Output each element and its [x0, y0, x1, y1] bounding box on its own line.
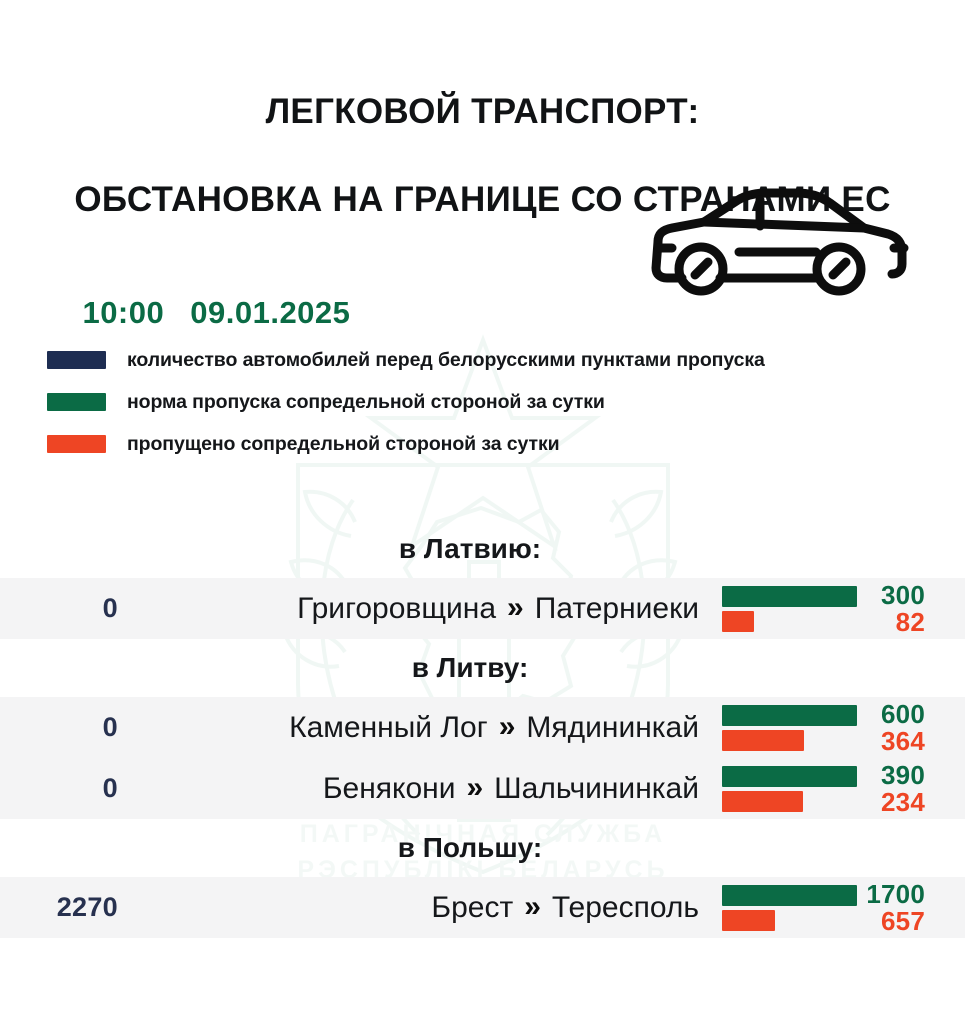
bar-group	[722, 586, 857, 632]
checkpoint-to: Мядининкай	[526, 711, 699, 745]
timestamp-time: 10:00	[82, 295, 164, 330]
value-group: 390234	[857, 762, 965, 816]
legend-swatch-norm	[47, 393, 106, 411]
route: Каменный Лог»Мядининкай	[118, 711, 713, 745]
route: Бенякони»Шальчининкай	[118, 772, 713, 806]
value-norm: 390	[857, 762, 925, 789]
group-heading: в Литву:	[0, 639, 965, 697]
group-heading: в Польшу:	[0, 819, 965, 877]
double-chevron-right-icon: »	[507, 593, 524, 623]
value-passed: 82	[857, 609, 925, 636]
legend-item-passed: пропущено сопредельной стороной за сутки	[47, 428, 765, 460]
legend-item-norm: норма пропуска сопредельной стороной за …	[47, 386, 765, 418]
table-row: 0Каменный Лог»Мядининкай600364	[0, 697, 965, 758]
checkpoint-to: Шальчининкай	[494, 772, 699, 806]
legend-swatch-passed	[47, 435, 106, 453]
queue-count: 2270	[0, 892, 118, 923]
value-passed: 657	[857, 908, 925, 935]
legend-label-passed: пропущено сопредельной стороной за сутки	[127, 433, 560, 456]
value-norm: 1700	[857, 881, 925, 908]
queue-count: 0	[0, 593, 118, 624]
legend-label-queue: количество автомобилей перед белорусским…	[127, 349, 765, 372]
bar-group	[722, 885, 857, 931]
group-heading: в Латвию:	[0, 520, 965, 578]
double-chevron-right-icon: »	[524, 892, 541, 922]
table-row: 2270Брест»Тересполь1700657	[0, 877, 965, 938]
checkpoint-to: Тересполь	[552, 891, 699, 925]
checkpoint-from: Григоровщина	[297, 592, 496, 626]
border-crossing-table: в Латвию:0Григоровщина»Патерниеки30082в …	[0, 520, 965, 938]
checkpoint-from: Каменный Лог	[289, 711, 488, 745]
car-icon	[642, 186, 910, 298]
bar-group	[722, 766, 857, 812]
value-norm: 300	[857, 582, 925, 609]
table-row: 0Григоровщина»Патерниеки30082	[0, 578, 965, 639]
value-group: 1700657	[857, 881, 965, 935]
checkpoint-from: Брест	[431, 891, 513, 925]
bar-passed	[722, 791, 803, 812]
legend-swatch-queue	[47, 351, 106, 369]
page-title-line-1: ЛЕГКОВОЙ ТРАНСПОРТ:	[0, 90, 965, 134]
legend-item-queue: количество автомобилей перед белорусским…	[47, 344, 765, 376]
bar-norm	[722, 586, 857, 607]
legend-label-norm: норма пропуска сопредельной стороной за …	[127, 391, 605, 414]
route: Брест»Тересполь	[118, 891, 713, 925]
legend: количество автомобилей перед белорусским…	[47, 344, 765, 470]
checkpoint-to: Патерниеки	[535, 592, 699, 626]
bar-group	[722, 705, 857, 751]
infographic-root: ПАГРАНІЧНАЯ СЛУЖБА РЭСПУБЛІКІ БЕЛАРУСЬ Л…	[0, 0, 965, 1024]
queue-count: 0	[0, 712, 118, 743]
checkpoint-from: Бенякони	[323, 772, 456, 806]
queue-count: 0	[0, 773, 118, 804]
bar-norm	[722, 885, 857, 906]
table-row: 0Бенякони»Шальчининкай390234	[0, 758, 965, 819]
timestamp-date: 09.01.2025	[190, 295, 350, 330]
bar-passed	[722, 611, 754, 632]
value-group: 30082	[857, 582, 965, 636]
value-group: 600364	[857, 701, 965, 755]
value-norm: 600	[857, 701, 925, 728]
value-passed: 234	[857, 789, 925, 816]
route: Григоровщина»Патерниеки	[118, 592, 713, 626]
bar-passed	[722, 910, 775, 931]
bar-norm	[722, 705, 857, 726]
double-chevron-right-icon: »	[466, 773, 483, 803]
double-chevron-right-icon: »	[499, 712, 516, 742]
bar-norm	[722, 766, 857, 787]
value-passed: 364	[857, 728, 925, 755]
bar-passed	[722, 730, 804, 751]
